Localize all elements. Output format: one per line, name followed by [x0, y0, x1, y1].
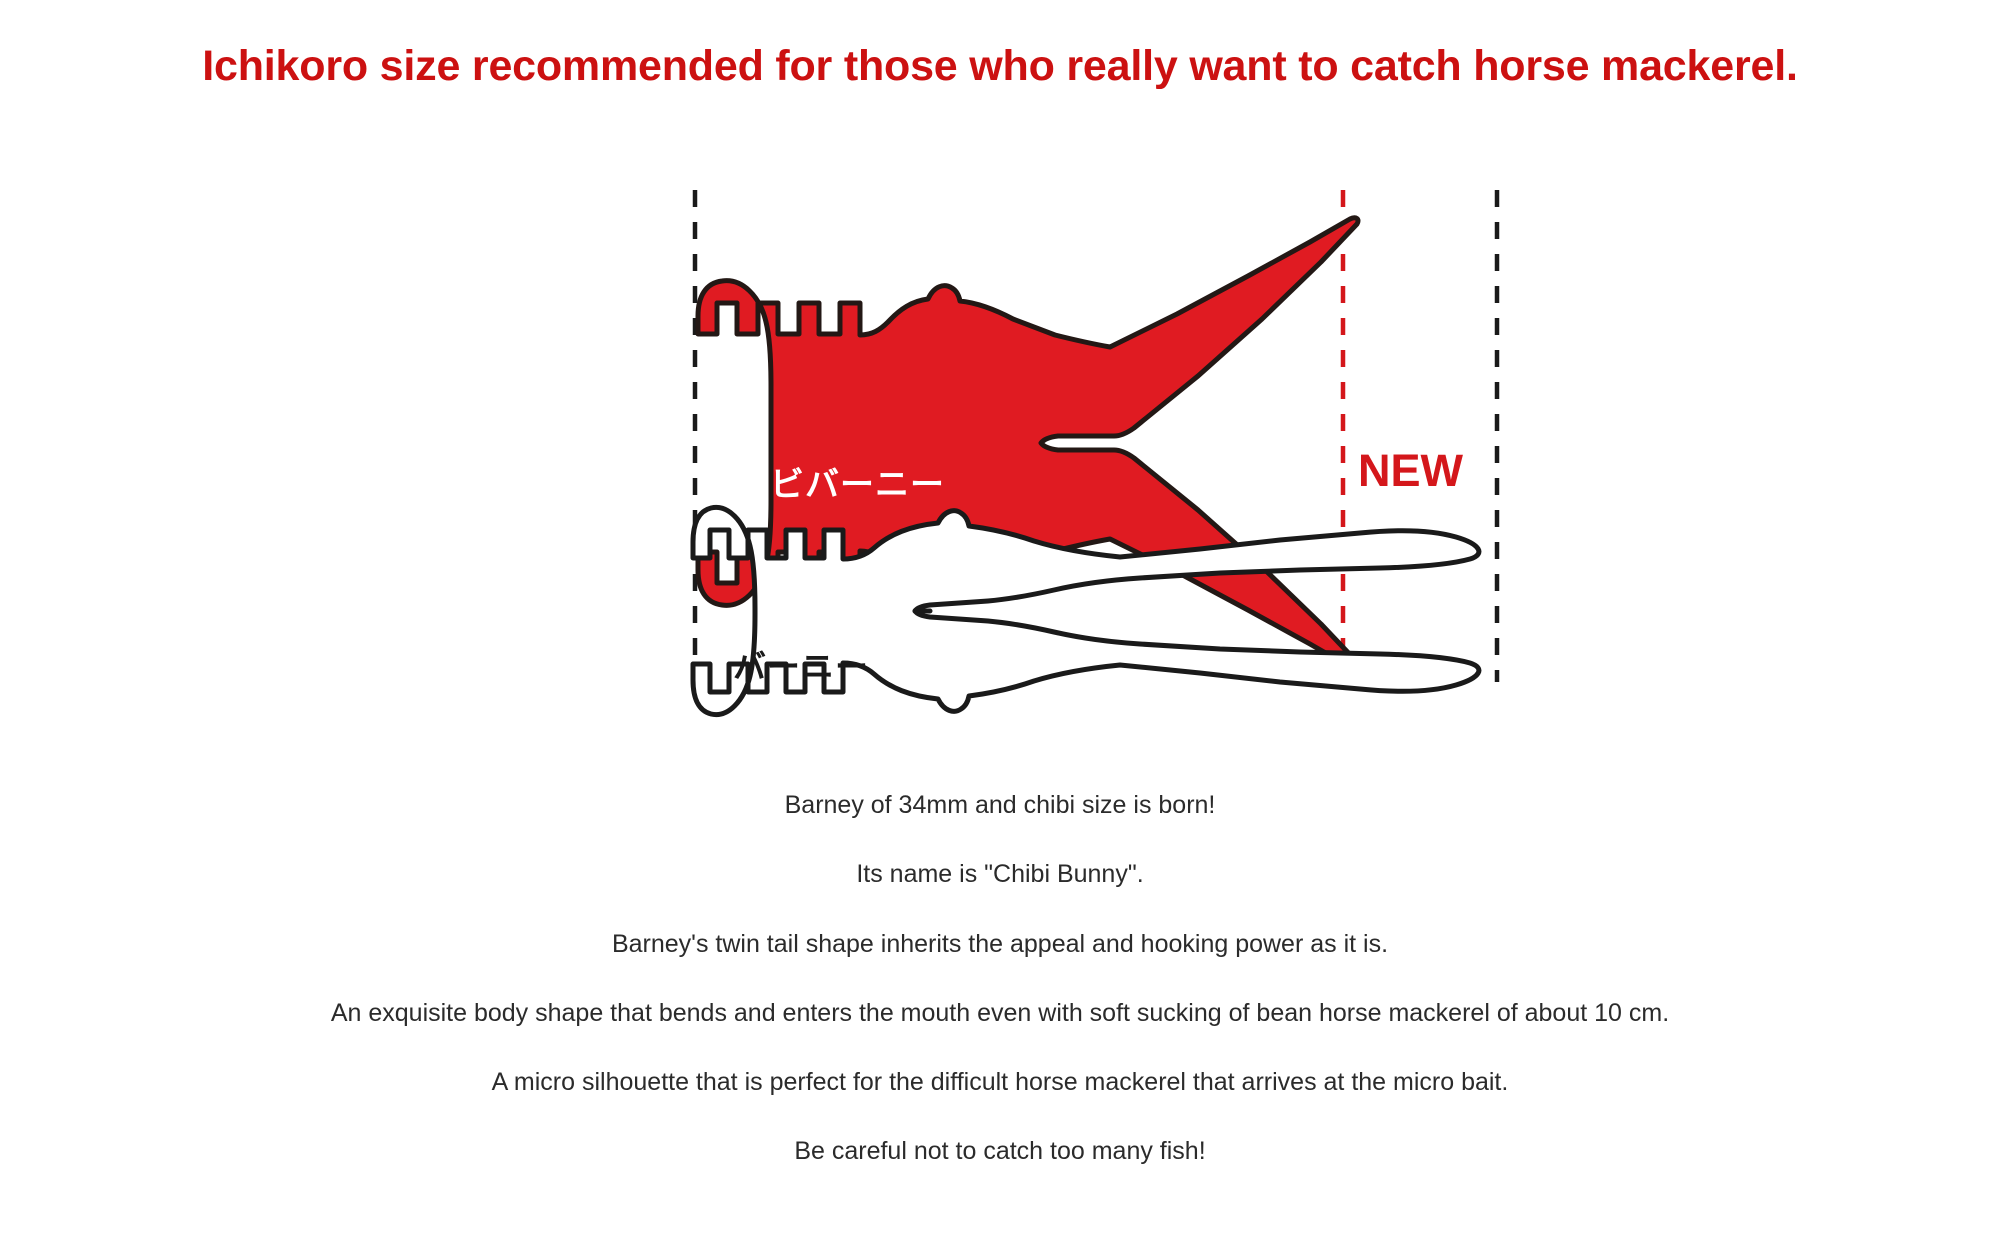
- copy-line: Barney's twin tail shape inherits the ap…: [0, 929, 2000, 960]
- page-root: Ichikoro size recommended for those who …: [0, 0, 2000, 1237]
- copy-line: Barney of 34mm and chibi size is born!: [0, 790, 2000, 821]
- lure-size-comparison-diagram: チビバーニー バーニー NEW: [0, 150, 2000, 730]
- description-copy: Barney of 34mm and chibi size is born! I…: [0, 790, 2000, 1168]
- copy-line: A micro silhouette that is perfect for t…: [0, 1067, 2000, 1098]
- copy-line: Its name is "Chibi Bunny".: [0, 859, 2000, 890]
- copy-line: Be careful not to catch too many fish!: [0, 1136, 2000, 1167]
- lure-original-label: バーニー: [733, 650, 869, 683]
- new-badge: NEW: [1358, 448, 1463, 493]
- lure-new-label: チビバーニー: [735, 468, 945, 502]
- copy-line: An exquisite body shape that bends and e…: [0, 998, 2000, 1029]
- page-title: Ichikoro size recommended for those who …: [0, 43, 2000, 90]
- lure-diagram-svg: [0, 150, 2000, 730]
